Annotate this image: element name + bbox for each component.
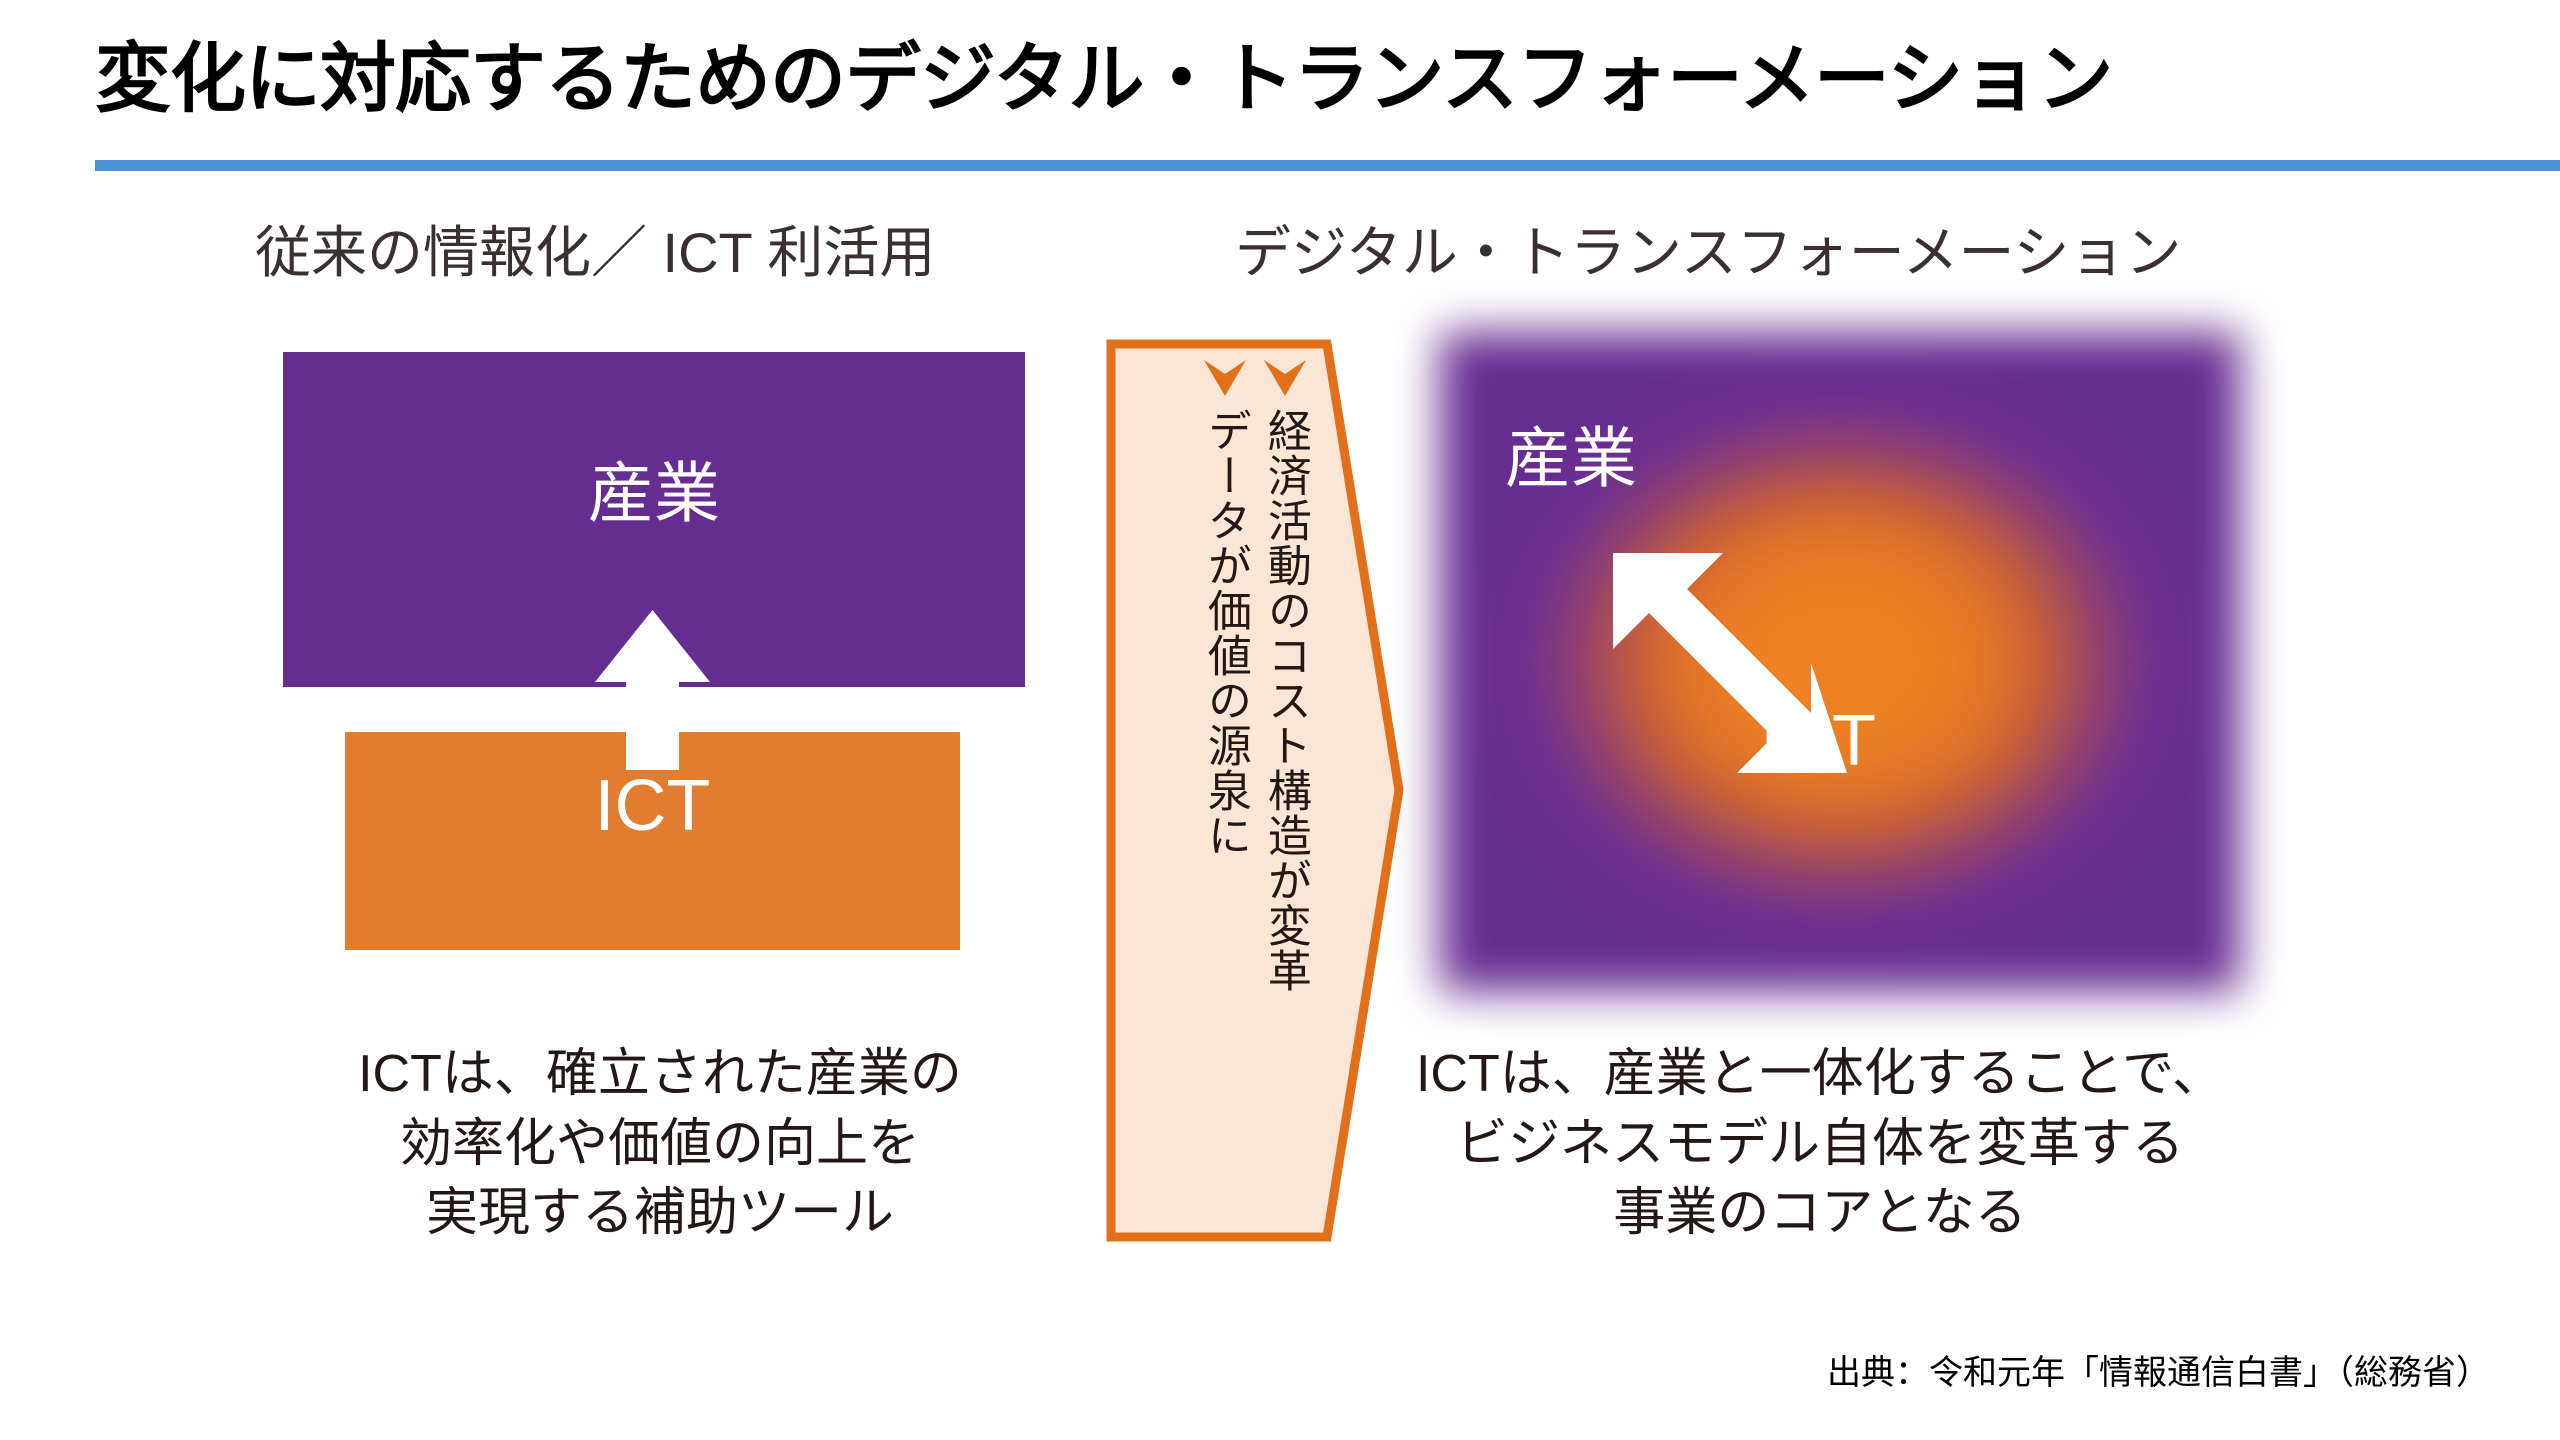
right-caption: ICTは、産業と一体化することで、 ビジネスモデル自体を変革する 事業のコアとな…: [1350, 1040, 2290, 1249]
arrow-up-icon: [595, 610, 710, 770]
column-header-legacy: 従来の情報化／ ICT 利活用: [255, 208, 935, 289]
right-ict-label: ICT: [1760, 700, 1876, 782]
left-industry-label: 産業: [283, 440, 1025, 536]
slide-canvas: 変化に対応するためのデジタル・トランスフォーメーション 従来の情報化／ ICT …: [0, 0, 2560, 1440]
left-ict-label: ICT: [345, 765, 960, 847]
title-underline-rule: [95, 160, 2560, 171]
source-attribution: 出典：令和元年「情報通信白書」（総務省）: [1827, 1345, 2490, 1394]
page-title: 変化に対応するためのデジタル・トランスフォーメーション: [95, 38, 2112, 122]
left-caption: ICTは、確立された産業の 効率化や価値の向上を 実現する補助ツール: [240, 1040, 1080, 1249]
right-industry-label: 産業: [1505, 405, 1637, 501]
column-header-dx: デジタル・トランスフォーメーション: [1235, 208, 2181, 289]
